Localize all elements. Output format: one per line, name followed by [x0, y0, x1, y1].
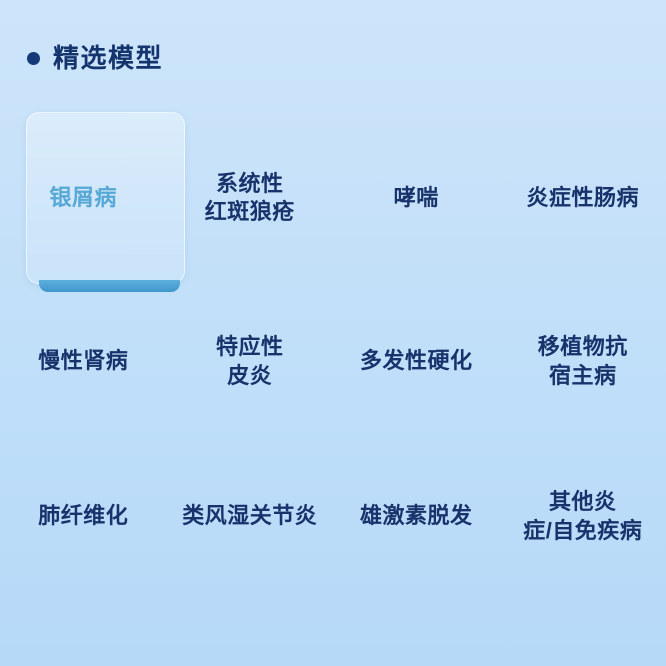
model-item-label: 类风湿关节炎: [182, 502, 317, 530]
model-item-label: 哮喘: [394, 184, 439, 212]
model-item-pulmonary-fibrosis[interactable]: 肺纤维化: [0, 439, 167, 594]
model-item-label: 炎症性肠病: [526, 184, 639, 212]
model-item-other-inflammatory[interactable]: 其他炎 症/自免疾病: [500, 439, 666, 594]
page-title: 精选模型: [53, 45, 163, 71]
model-item-atopic-dermatitis[interactable]: 特应性 皮炎: [167, 284, 334, 439]
model-item-psoriasis[interactable]: 银屑病: [0, 112, 167, 284]
model-item-asthma[interactable]: 哮喘: [333, 112, 500, 284]
model-item-ckd[interactable]: 慢性肾病: [0, 284, 167, 439]
model-item-label: 肺纤维化: [38, 502, 128, 530]
model-item-label: 慢性肾病: [38, 347, 128, 375]
model-item-rheumatoid-arthritis[interactable]: 类风湿关节炎: [167, 439, 334, 594]
model-grid: 银屑病系统性 红斑狼疮哮喘炎症性肠病慢性肾病特应性 皮炎多发性硬化移植物抗 宿主…: [0, 112, 666, 594]
featured-models-screen: 精选模型 银屑病系统性 红斑狼疮哮喘炎症性肠病慢性肾病特应性 皮炎多发性硬化移植…: [0, 0, 666, 666]
model-item-label: 多发性硬化: [360, 347, 473, 375]
model-item-label: 系统性 红斑狼疮: [205, 170, 295, 226]
model-item-gvhd[interactable]: 移植物抗 宿主病: [500, 284, 666, 439]
model-item-androgenetic-alopecia[interactable]: 雄激素脱发: [333, 439, 500, 594]
model-item-multiple-sclerosis[interactable]: 多发性硬化: [333, 284, 500, 439]
model-item-label: 其他炎 症/自免疾病: [523, 488, 642, 544]
model-item-label: 银屑病: [49, 184, 117, 212]
section-header: 精选模型: [27, 41, 163, 75]
model-item-label: 特应性 皮炎: [216, 333, 284, 389]
model-item-label: 移植物抗 宿主病: [538, 333, 628, 389]
model-item-sle[interactable]: 系统性 红斑狼疮: [167, 112, 334, 284]
model-item-ibd[interactable]: 炎症性肠病: [500, 112, 666, 284]
bullet-dot-icon: [27, 52, 40, 65]
model-item-label: 雄激素脱发: [360, 502, 473, 530]
